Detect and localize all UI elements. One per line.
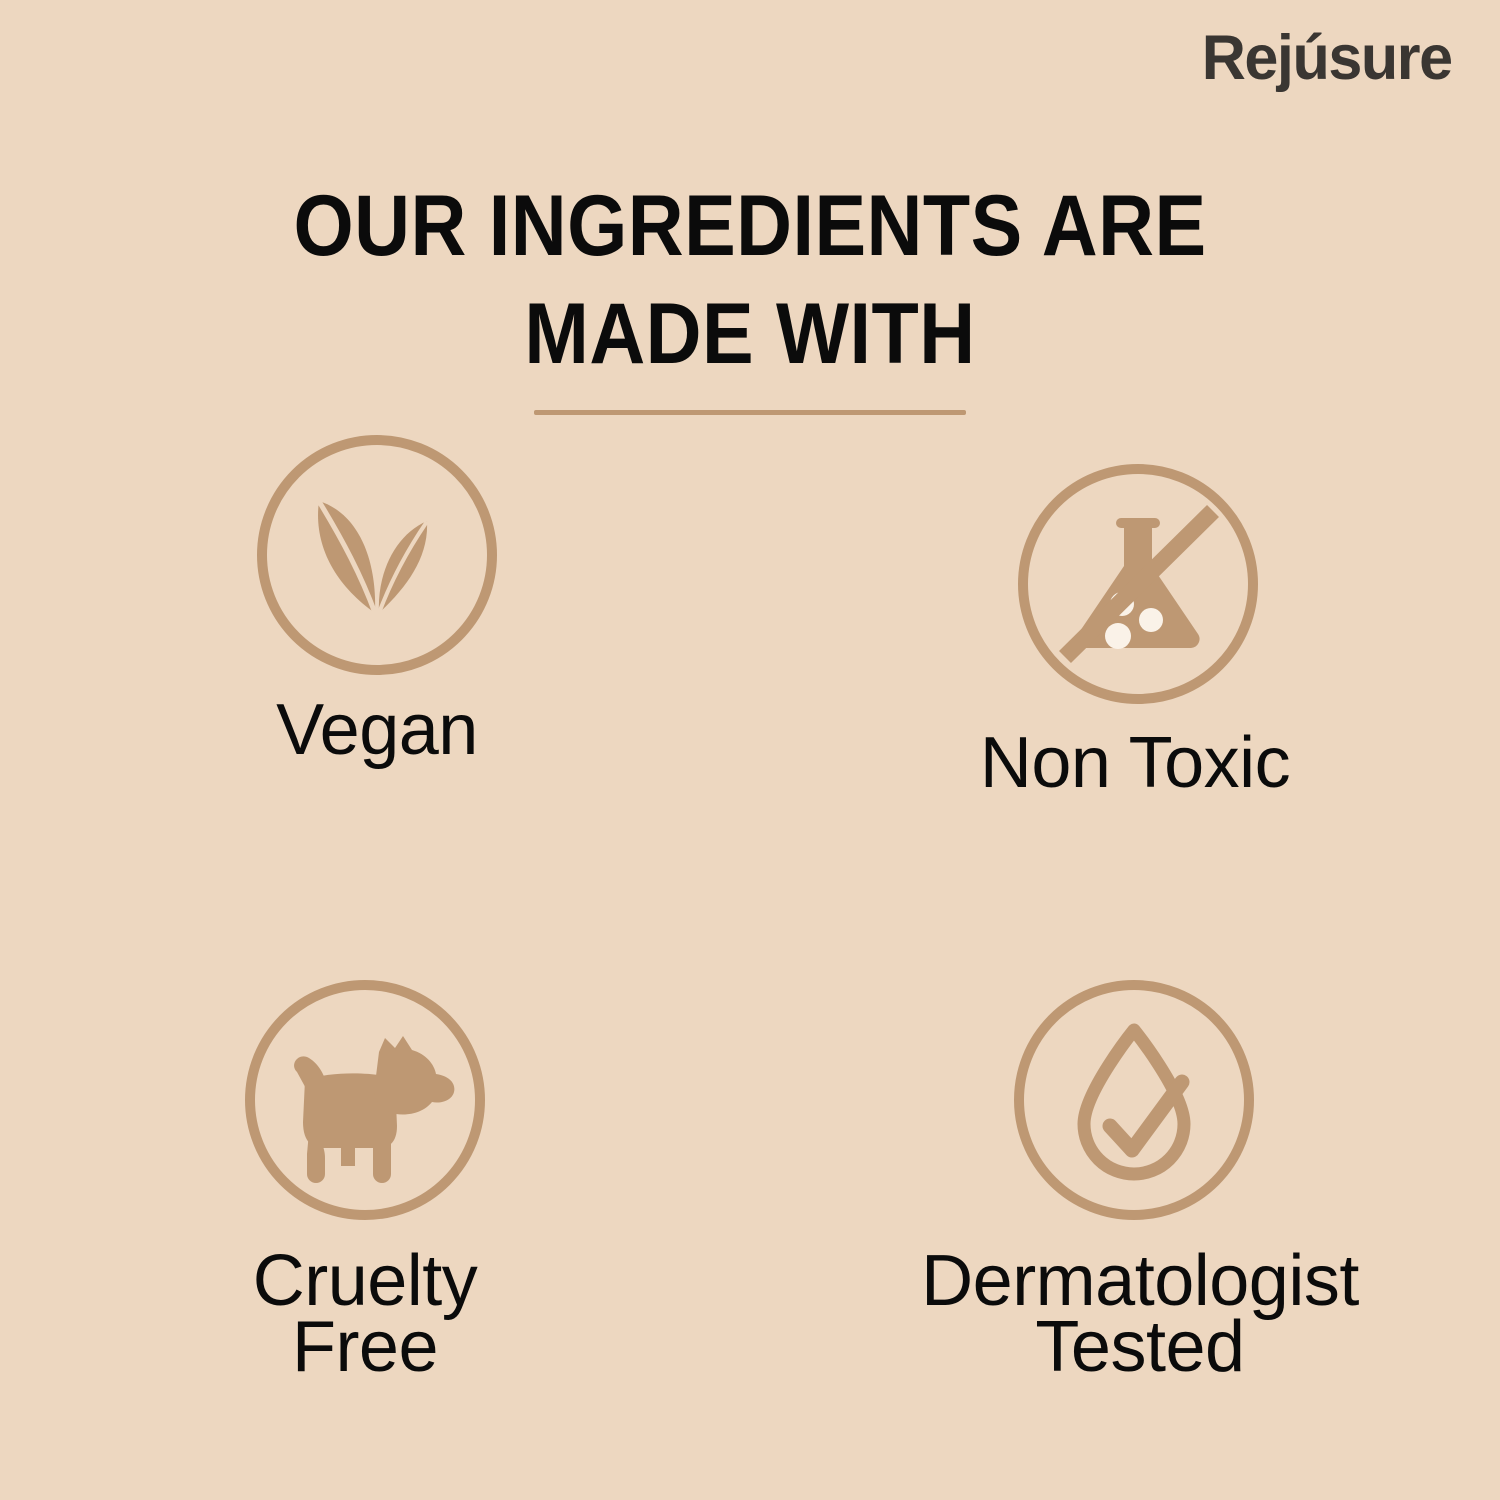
brand-logo: Rejúsure <box>1202 22 1452 94</box>
badge-cruelty-free-icon-wrap <box>245 980 485 1220</box>
leaf-icon <box>257 435 497 675</box>
badge-cruelty-free-label: Cruelty Free <box>165 1248 565 1380</box>
headline-line-2: MADE WITH <box>75 280 1425 388</box>
badge-dermatologist-tested: Dermatologist Tested <box>890 980 1390 1380</box>
droplet-check-icon <box>1014 980 1254 1220</box>
badge-non-toxic-icon-wrap <box>1018 464 1258 704</box>
badge-cruelty-free: Cruelty Free <box>165 980 565 1380</box>
badge-dermatologist-tested-label: Dermatologist Tested <box>890 1248 1390 1380</box>
headline-line-1: OUR INGREDIENTS ARE <box>75 172 1425 280</box>
badge-dermatologist-tested-label-line-1: Dermatologist <box>890 1248 1390 1314</box>
badge-non-toxic: Non Toxic <box>925 464 1345 800</box>
dog-icon <box>245 980 485 1220</box>
badge-cruelty-free-label-line-2: Free <box>165 1314 565 1380</box>
badge-dermatologist-tested-icon-wrap <box>1014 980 1254 1220</box>
badge-vegan-icon-wrap <box>257 435 497 675</box>
no-chemicals-flask-icon <box>1018 464 1258 704</box>
badge-cruelty-free-label-line-1: Cruelty <box>165 1248 565 1314</box>
headline-block: OUR INGREDIENTS ARE MADE WITH <box>0 172 1500 415</box>
badge-vegan-label: Vegan <box>177 693 577 767</box>
badge-vegan: Vegan <box>177 435 577 767</box>
badge-dermatologist-tested-label-line-2: Tested <box>890 1314 1390 1380</box>
badge-non-toxic-label: Non Toxic <box>925 726 1345 800</box>
headline-underline-rule <box>534 410 966 415</box>
